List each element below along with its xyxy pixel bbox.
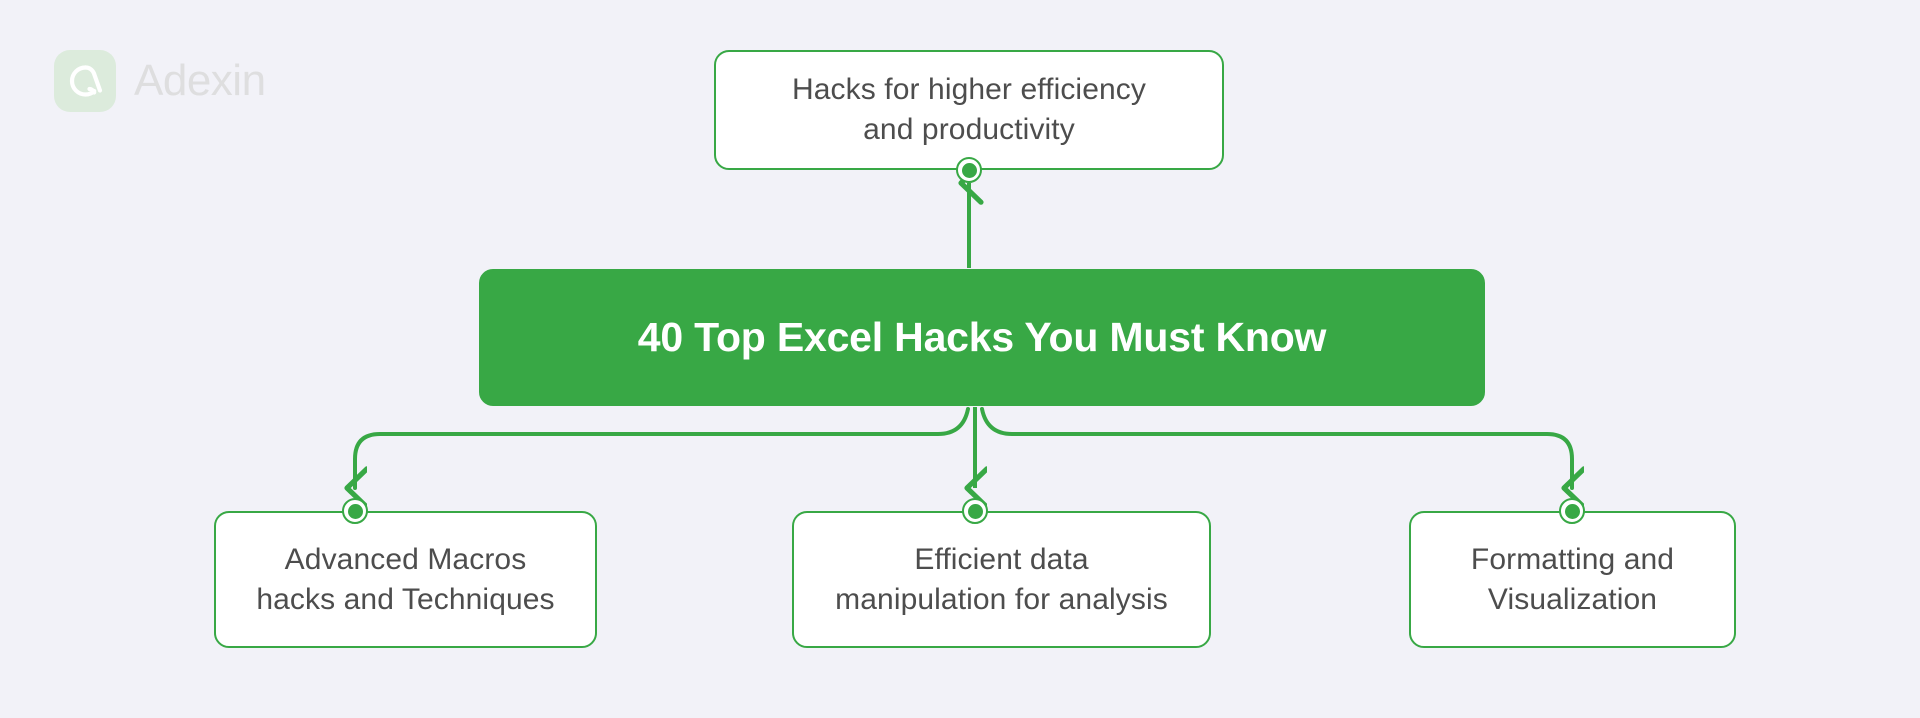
- connector-dot-child-1: [962, 498, 988, 524]
- brand-logo: Adexin: [54, 50, 266, 112]
- node-efficient-data-manipulation[interactable]: Efficient data manipulation for analysis: [792, 511, 1211, 648]
- node-root-40-top-excel-hacks[interactable]: 40 Top Excel Hacks You Must Know: [479, 269, 1485, 406]
- node-label: Advanced Macros hacks and Techniques: [256, 540, 554, 620]
- edge-root-to-child-2: [982, 409, 1572, 488]
- node-label: 40 Top Excel Hacks You Must Know: [638, 310, 1327, 365]
- brand-name: Adexin: [134, 59, 266, 103]
- node-advanced-macros[interactable]: Advanced Macros hacks and Techniques: [214, 511, 597, 648]
- node-hacks-for-higher-efficiency[interactable]: Hacks for higher efficiency and producti…: [714, 50, 1224, 170]
- node-formatting-and-visualization[interactable]: Formatting and Visualization: [1409, 511, 1736, 648]
- connector-dot-top: [956, 157, 982, 183]
- connector-dot-child-0: [342, 498, 368, 524]
- node-label: Efficient data manipulation for analysis: [835, 540, 1168, 620]
- connector-dot-child-2: [1559, 498, 1585, 524]
- adexin-a-logomark-icon: [54, 50, 116, 112]
- diagram-canvas: Adexin Hacks for high: [0, 0, 1920, 718]
- edge-root-to-child-0: [355, 409, 968, 488]
- node-label: Hacks for higher efficiency and producti…: [792, 70, 1146, 150]
- node-label: Formatting and Visualization: [1471, 540, 1674, 620]
